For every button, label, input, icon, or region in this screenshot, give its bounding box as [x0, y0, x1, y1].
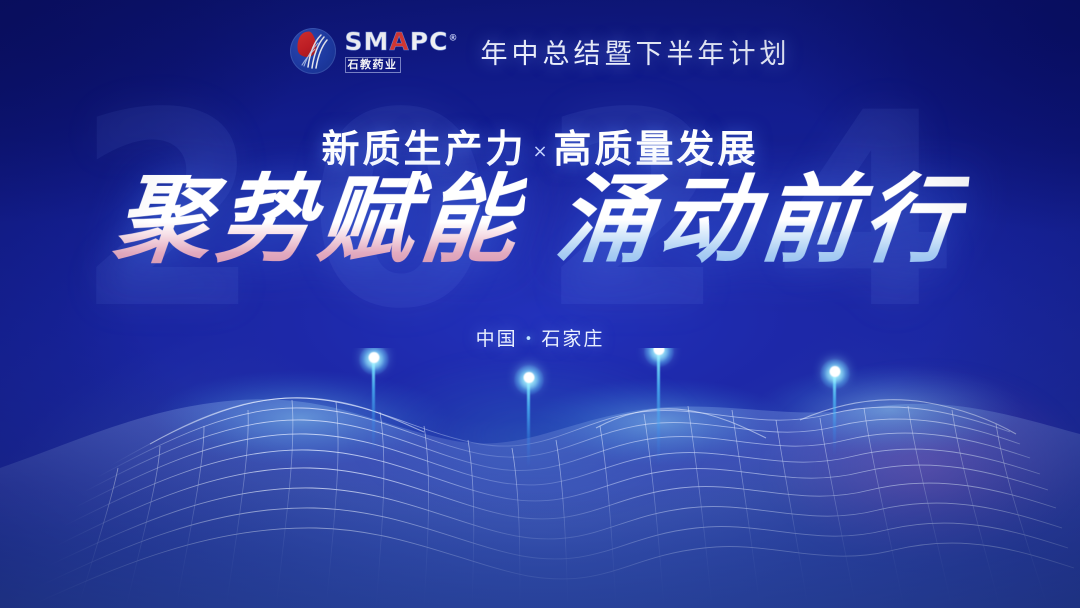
vignette-overlay: [0, 0, 1080, 608]
slide-canvas: 2024 SMAPC® 石教: [0, 0, 1080, 608]
